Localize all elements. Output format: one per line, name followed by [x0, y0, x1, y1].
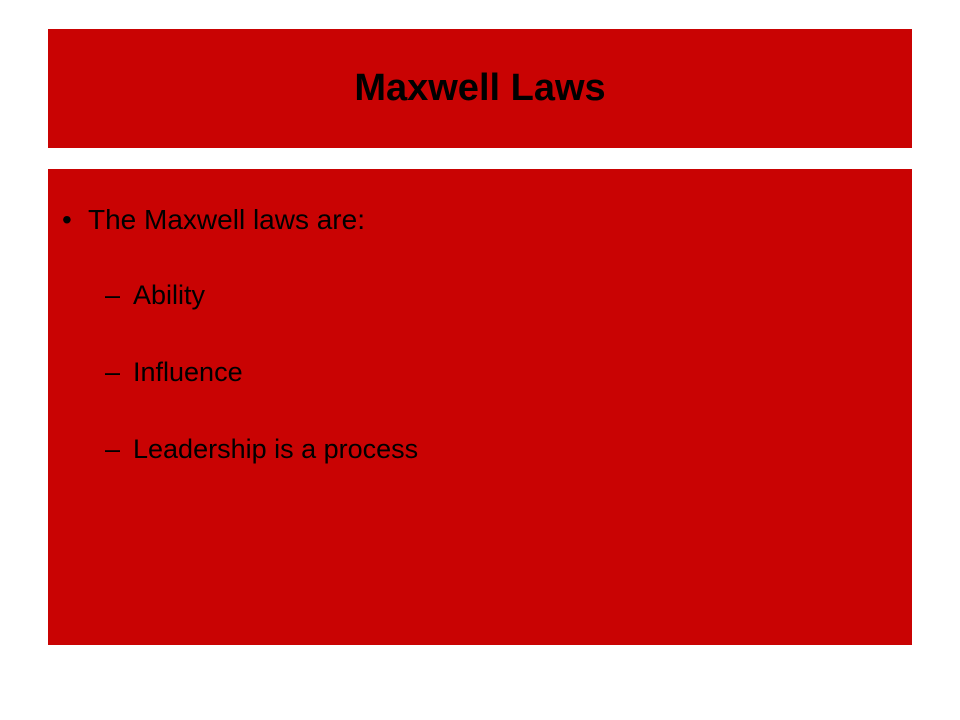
title-placeholder[interactable]: Maxwell Laws	[48, 29, 912, 148]
bullet-dash-icon: –	[105, 436, 120, 463]
list-item-label: Leadership is a process	[133, 434, 418, 464]
list-item[interactable]: – Leadership is a process	[48, 436, 960, 463]
list-item[interactable]: – Ability	[48, 282, 960, 309]
bullet-dot-icon: •	[62, 206, 72, 234]
bullet-dash-icon: –	[105, 359, 120, 386]
list-item-label: The Maxwell laws are:	[88, 204, 365, 235]
list-item-label: Influence	[133, 357, 243, 387]
body-placeholder[interactable]: • The Maxwell laws are: – Ability – Infl…	[48, 169, 912, 645]
bullet-dash-icon: –	[105, 282, 120, 309]
slide-canvas: Maxwell Laws • The Maxwell laws are: – A…	[0, 0, 960, 720]
list-item[interactable]: – Influence	[48, 359, 960, 386]
list-item-label: Ability	[133, 280, 205, 310]
page-title: Maxwell Laws	[354, 68, 605, 110]
